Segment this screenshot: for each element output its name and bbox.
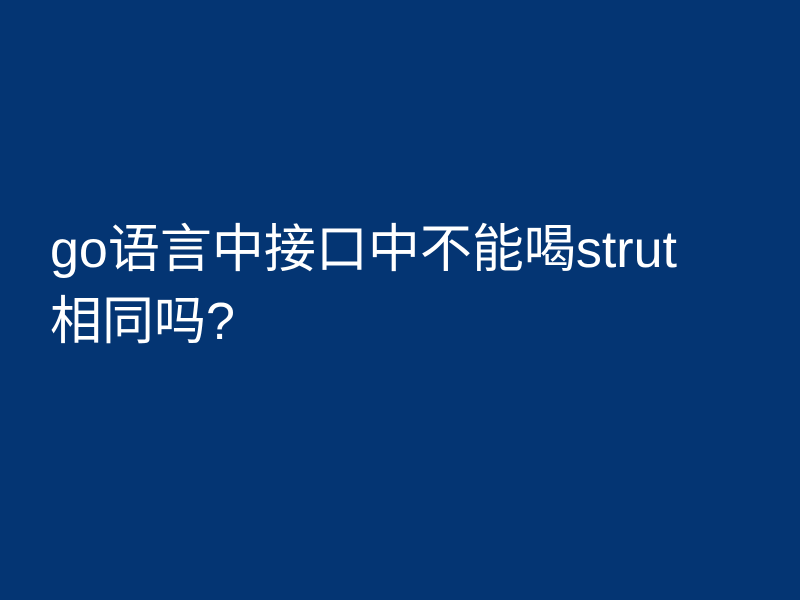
headline-text: go语言中接口中不能喝strut相同吗?: [50, 214, 722, 358]
question-card: go语言中接口中不能喝strut相同吗?: [0, 0, 800, 600]
headline-block: go语言中接口中不能喝strut相同吗?: [50, 214, 722, 358]
